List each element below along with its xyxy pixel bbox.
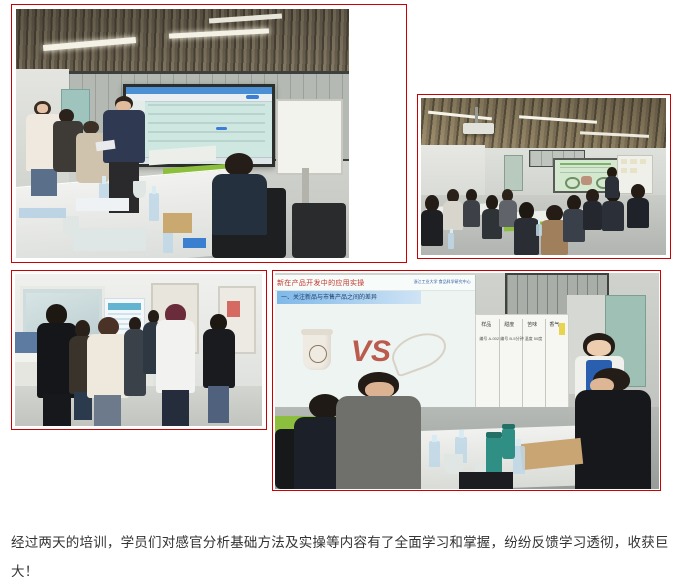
slide-text-lines (560, 167, 610, 173)
person-legs (94, 395, 121, 426)
person-standing (87, 317, 129, 426)
person-body (575, 390, 652, 489)
person-body (203, 329, 235, 388)
flipchart-stand (302, 168, 309, 208)
product-cup-image (303, 332, 331, 370)
water-bottle (448, 233, 454, 249)
person-body (421, 210, 443, 245)
sticky-note (559, 323, 565, 336)
person-seated (514, 202, 539, 255)
person-seated (583, 189, 603, 230)
slide-org-logo: 浙江工业大学 食品科学研究中心 (414, 279, 471, 285)
paper-sheet (76, 198, 129, 210)
sticky-note (621, 168, 627, 173)
person-body (463, 200, 480, 226)
product-swirl-image (387, 326, 451, 377)
ceiling-shading (421, 98, 666, 151)
person-body (443, 201, 463, 230)
ceiling-projector (463, 123, 495, 134)
person-legs (208, 386, 229, 423)
person-seated (209, 153, 269, 258)
person-seated-foreground (336, 372, 420, 489)
whiteboard-divider (545, 319, 546, 408)
sticky-note (640, 159, 646, 164)
article-body: 新在产品开发中的应用实操 浙江工业大学 食品科学研究中心 一、关注新品与市售产品… (0, 0, 697, 565)
tumbler-lid (502, 424, 515, 429)
cardboard-box (163, 213, 193, 233)
screen-button (216, 127, 226, 130)
blue-marker (183, 238, 206, 248)
person-body (212, 174, 267, 235)
backpack (459, 472, 513, 489)
paper-sheet (19, 208, 66, 218)
person-body (602, 201, 624, 232)
thermos-tumbler (502, 429, 515, 459)
photo-training-room-wide (421, 98, 666, 255)
person-body (156, 320, 196, 393)
person-body (583, 201, 603, 230)
person-body (627, 198, 649, 229)
handout-paper (95, 139, 115, 151)
slide-product-image (565, 177, 579, 189)
person-seated-right (575, 368, 652, 489)
photo-frame-training-room-wide (417, 94, 671, 259)
photo-lab-practice (15, 274, 262, 426)
slide-vs-mark (581, 176, 592, 185)
person-standing (203, 314, 235, 423)
whiteboard-header-cell: 样品 (481, 321, 491, 328)
slide-subtitle: 一、关注新品与市售产品之间的差异 (281, 292, 377, 301)
person-standing-white-coat (156, 304, 196, 426)
photo-frame-vs-presentation: 新在产品开发中的应用实操 浙江工业大学 食品科学研究中心 一、关注新品与市售产品… (272, 270, 661, 491)
photo-vs-presentation: 新在产品开发中的应用实操 浙江工业大学 食品科学研究中心 一、关注新品与市售产品… (275, 273, 659, 489)
person-head (225, 153, 254, 176)
person-seated (443, 189, 463, 230)
sticky-note (621, 159, 627, 164)
room-door (504, 155, 523, 192)
person-body (336, 396, 420, 489)
person-body (605, 176, 620, 198)
person-face (37, 104, 48, 113)
projector-mount (475, 107, 478, 124)
photo-classroom-display (16, 9, 349, 258)
person-body (514, 218, 539, 255)
person-seated (463, 189, 480, 227)
water-bottle (149, 193, 159, 220)
office-chair (292, 203, 345, 258)
whiteboard-header-cell: 苦味 (527, 321, 537, 328)
photo-frame-classroom-display (11, 4, 407, 263)
slide-vs-label: VS (351, 335, 391, 369)
person-seated (421, 195, 443, 245)
sticky-note (630, 159, 636, 164)
screen-titlebar (126, 87, 273, 94)
water-bottle (429, 441, 441, 467)
article-caption: 经过两天的培训，学员们对感官分析基础方法及实操等内容有了全面学习和掌握，纷纷反馈… (11, 529, 683, 587)
sticky-note (630, 168, 636, 173)
paper-cup (133, 181, 146, 198)
lab-instrument (15, 332, 40, 353)
slide-title: 新在产品开发中的应用实操 (277, 278, 365, 288)
person-presenter (605, 167, 620, 198)
person-body (103, 110, 145, 163)
tumbler-lid (486, 432, 501, 438)
thermos-tumbler (486, 437, 501, 476)
cup-lid (301, 329, 332, 335)
person-legs (162, 390, 189, 426)
person-seated (627, 184, 649, 228)
flipchart-board (276, 99, 343, 175)
cup-logo (309, 345, 327, 363)
whiteboard-divider (499, 319, 500, 408)
sample-kit-box (73, 228, 146, 250)
photo-frame-lab-practice (11, 270, 267, 430)
screen-content-rows (148, 104, 265, 149)
whiteboard: 样品 甜度 苦味 香气 编号 A-002 编号 B-5分钟 温度 50度 (475, 314, 569, 413)
person-body (87, 334, 129, 397)
screen-button (246, 95, 259, 99)
poster-line (108, 313, 141, 315)
whiteboard-divider (522, 319, 523, 408)
whiteboard-header-cell: 甜度 (504, 321, 514, 328)
whiteboard-notes: 编号 A-002 编号 B-5分钟 温度 50度 (479, 336, 542, 342)
person-head (46, 304, 67, 325)
poster-header (108, 303, 141, 310)
person-legs (43, 394, 71, 426)
water-bottle (536, 224, 542, 237)
person-face (587, 340, 611, 356)
slide-title-bar (560, 163, 611, 165)
